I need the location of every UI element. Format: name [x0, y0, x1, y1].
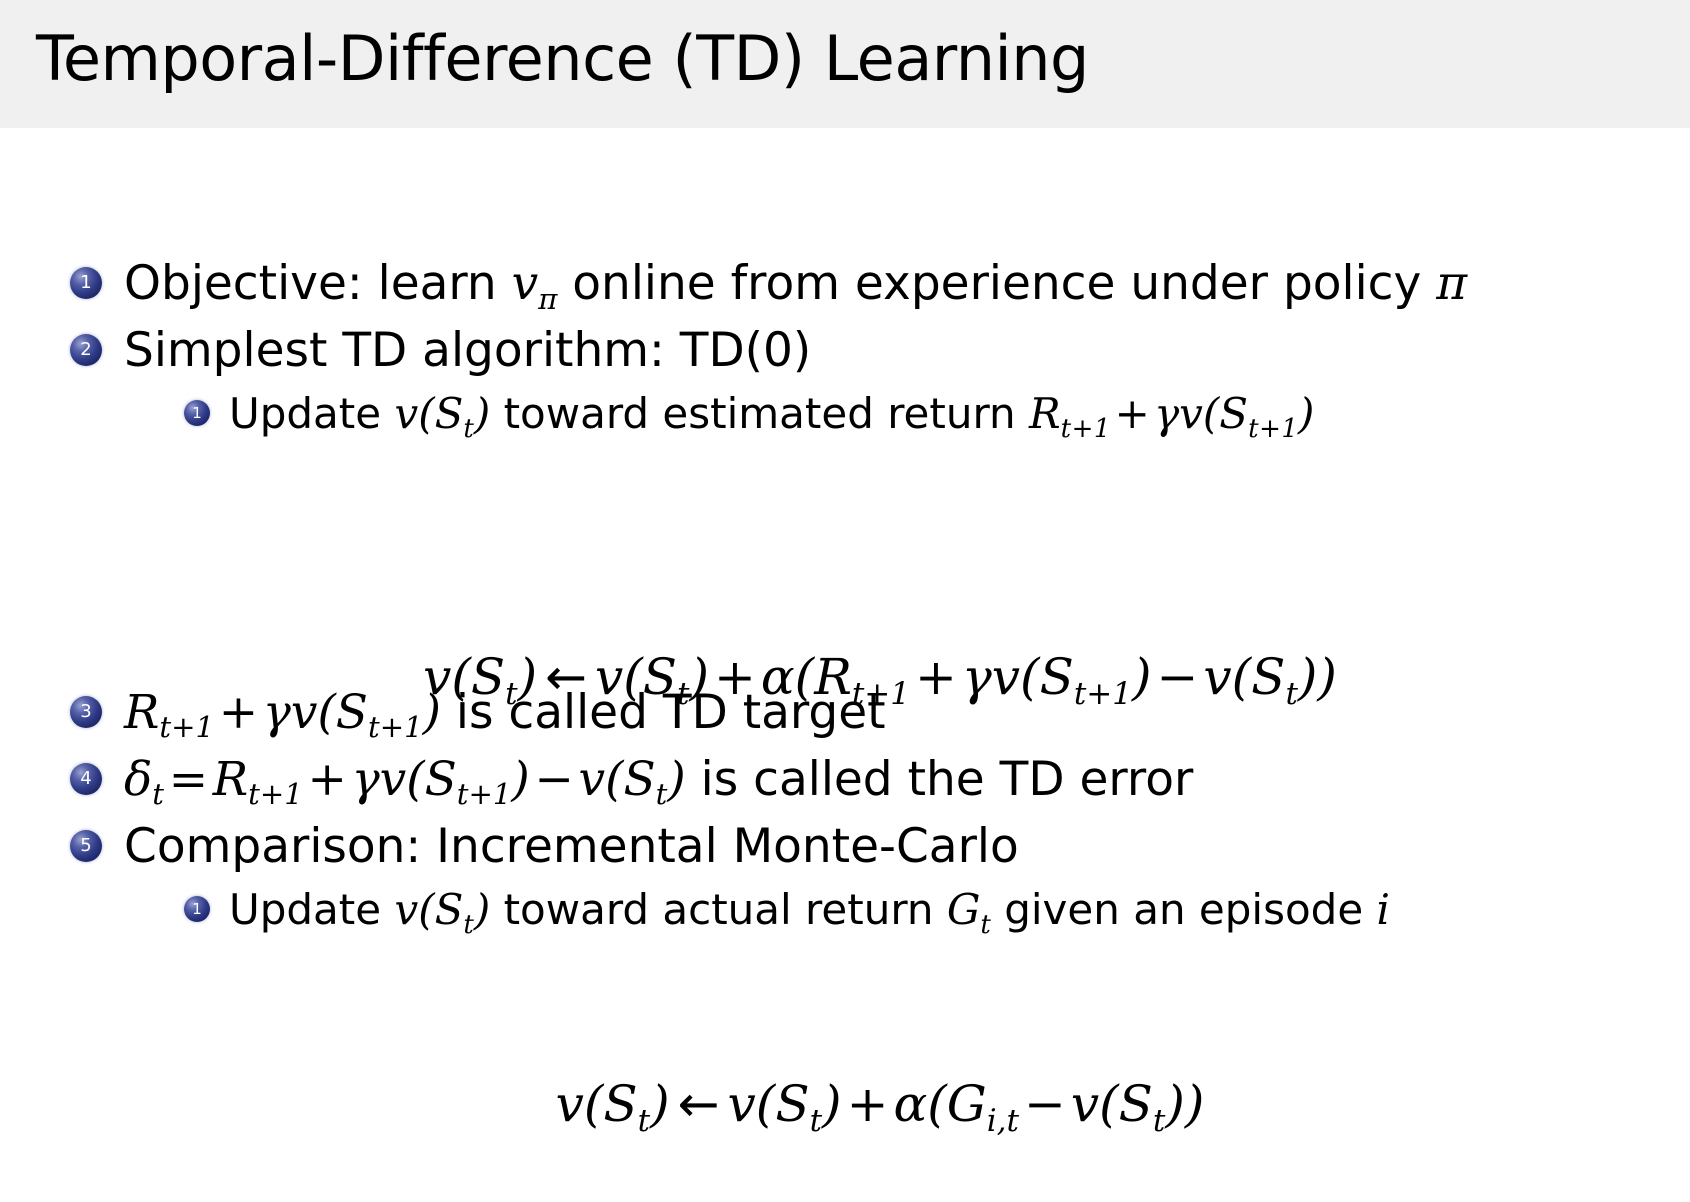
math-paren-close: )) [1165, 1075, 1204, 1133]
text-run: t [1061, 414, 1071, 444]
list-item-text: Comparison: Incremental Monte-Carlo [124, 816, 1019, 877]
math-R: R [814, 648, 852, 706]
list-item-text: Update v(St) toward actual return Gt giv… [229, 883, 1390, 938]
equation-spacer [70, 446, 1630, 682]
equation-body: v(St)←v(St)+α(Rt+1+γv(St+1)−v(St)) [70, 648, 1630, 706]
text-run: + [1259, 414, 1282, 444]
math-S: S [1219, 389, 1248, 438]
math-paren-open: ( [927, 1075, 947, 1133]
math-leftarrow: ← [537, 648, 595, 706]
math-paren-close: ) [689, 648, 709, 706]
math-subscript-t-plus-1: t+1 [1248, 414, 1298, 444]
math-subscript-t: t [677, 676, 689, 712]
list-item-comparison: 5 Comparison: Incremental Monte-Carlo [70, 816, 1630, 877]
bullet-marker-1: 1 [70, 267, 102, 299]
math-paren-open: ( [451, 648, 471, 706]
slide-header: Temporal-Difference (TD) Learning [0, 0, 1690, 128]
math-S: S [1040, 648, 1074, 706]
bullet-marker-5: 5 [70, 830, 102, 862]
math-minus: − [530, 752, 579, 807]
math-paren-open: ( [756, 1075, 776, 1133]
math-minus: − [1152, 648, 1204, 706]
list-item-update-actual-return: 1 Update v(St) toward actual return Gt g… [70, 883, 1630, 938]
text-run: given an episode [991, 885, 1377, 934]
math-subscript-t: t [152, 777, 164, 811]
math-alpha: α [761, 648, 795, 706]
math-gamma: γ [962, 648, 992, 706]
math-paren-close: ) [667, 752, 685, 807]
math-paren-close: ) [822, 1075, 842, 1133]
text-run: online from experience under policy [557, 256, 1436, 311]
list-item-text: δt=Rt+1+γv(St+1)−v(St) is called the TD … [124, 749, 1193, 810]
math-minus: − [1019, 1075, 1071, 1133]
math-subscript-t: t [1285, 676, 1297, 712]
math-paren-close: ) [511, 752, 529, 807]
math-S: S [643, 648, 677, 706]
math-leftarrow: ← [670, 1075, 728, 1133]
math-subscript-t-plus-1: t+1 [1061, 414, 1111, 444]
bullet-marker-2: 2 [70, 334, 102, 366]
text-run: Objective: learn [124, 256, 512, 311]
math-v: v [394, 389, 418, 438]
math-v: v [423, 648, 451, 706]
math-v: v [380, 752, 407, 807]
math-paren-open: ( [1020, 648, 1040, 706]
text-run: toward estimated return [490, 389, 1029, 438]
math-paren-open: ( [623, 648, 643, 706]
math-subscript-t: t [1153, 1103, 1165, 1139]
math-paren-open: ( [584, 1075, 604, 1133]
list-item-objective: 1 Objective: learn vπ online from experi… [70, 253, 1630, 314]
math-v: v [992, 648, 1020, 706]
math-subscript-t-plus-1: t+1 [159, 710, 214, 744]
bullet-marker-sub-1: 1 [184, 400, 210, 426]
math-gamma: γ [1154, 389, 1179, 438]
list-item-update-estimated-return: 1 Update v(St) toward estimated return R… [70, 387, 1630, 442]
list-item-text: Update v(St) toward estimated return Rt+… [229, 387, 1314, 442]
equation-inner: v(St)←v(St)+α(Gi,t−v(St)) [496, 1075, 1205, 1133]
math-v: v [556, 1075, 584, 1133]
math-paren-close: ) [1298, 389, 1314, 438]
math-equals: = [164, 752, 213, 807]
math-paren-open: ( [1203, 389, 1219, 438]
bullet-marker-4: 4 [70, 763, 102, 795]
math-S: S [1251, 648, 1285, 706]
math-alpha: α [893, 1075, 927, 1133]
text-run: t [1248, 414, 1258, 444]
text-run: toward actual return [490, 885, 947, 934]
math-subscript-i-t: i,t [987, 1103, 1019, 1139]
equation-td-update: v(St)←v(St)+α(Rt+1+γv(St+1)−v(St)) [70, 648, 1630, 706]
equation-body: v(St)←v(St)+α(Gi,t−v(St)) [70, 1075, 1630, 1133]
math-pi: π [1436, 256, 1467, 311]
page-title: Temporal-Difference (TD) Learning [36, 22, 1089, 95]
math-S: S [1119, 1075, 1153, 1133]
math-subscript-t: t [638, 1103, 650, 1139]
list-item-text: Simplest TD algorithm: TD(0) [124, 320, 811, 381]
math-paren-close: ) [474, 885, 490, 934]
math-subscript-t: t [463, 910, 473, 940]
math-plus: + [910, 648, 962, 706]
math-subscript-t: t [463, 414, 473, 444]
math-R: R [213, 752, 248, 807]
math-subscript-t-plus-1: t+1 [1074, 676, 1132, 712]
bullet-marker-3: 3 [70, 696, 102, 728]
math-subscript-t: t [980, 910, 990, 940]
list-item-simplest-td: 2 Simplest TD algorithm: TD(0) [70, 320, 1630, 381]
math-plus: + [842, 1075, 894, 1133]
math-plus: + [709, 648, 761, 706]
math-paren-close: )) [1298, 648, 1337, 706]
math-paren-open: ( [1099, 1075, 1119, 1133]
math-S: S [435, 885, 464, 934]
math-v: v [579, 752, 606, 807]
list-item-td-error: 4 δt=Rt+1+γv(St+1)−v(St) is called the T… [70, 749, 1630, 810]
math-subscript-t: t [810, 1103, 822, 1139]
text-run: 1 [1094, 414, 1111, 444]
text-run: + [1071, 414, 1094, 444]
math-G: G [947, 885, 981, 934]
math-paren-close: ) [1132, 648, 1152, 706]
math-delta: δ [124, 752, 152, 807]
math-subscript-t: t [656, 777, 668, 811]
math-v: v [1179, 389, 1203, 438]
math-subscript-t: t [505, 676, 517, 712]
math-subscript-pi: π [538, 282, 557, 316]
text-run: 1 [1281, 414, 1298, 444]
equation-mc-update: v(St)←v(St)+α(Gi,t−v(St)) [70, 1075, 1630, 1133]
text-run: is called the TD error [686, 752, 1194, 807]
math-paren-open: ( [406, 752, 424, 807]
math-paren-open: ( [795, 648, 815, 706]
enumerate-list: 1 Objective: learn vπ online from experi… [70, 253, 1630, 942]
list-item-text: Objective: learn vπ online from experien… [124, 253, 1467, 314]
math-S: S [425, 752, 457, 807]
math-S: S [471, 648, 505, 706]
math-paren-close: ) [474, 389, 490, 438]
math-v: v [394, 885, 418, 934]
math-v: v [1203, 648, 1231, 706]
math-v: v [512, 256, 539, 311]
math-S: S [623, 752, 655, 807]
math-v: v [595, 648, 623, 706]
math-S: S [435, 389, 464, 438]
text-run: Update [229, 885, 394, 934]
math-paren-close: ) [518, 648, 538, 706]
math-paren-open: ( [418, 885, 434, 934]
math-plus: + [1110, 389, 1154, 438]
math-subscript-t-plus-1: t+1 [457, 777, 512, 811]
math-S: S [775, 1075, 809, 1133]
slide-body: 1 Objective: learn vπ online from experi… [0, 128, 1690, 1202]
math-paren-open: ( [418, 389, 434, 438]
math-subscript-t-plus-1: t+1 [248, 777, 303, 811]
math-subscript-t-plus-1: t+1 [368, 710, 423, 744]
math-G: G [947, 1075, 987, 1133]
math-i: i [1377, 885, 1390, 934]
bullet-marker-sub-2: 1 [184, 896, 210, 922]
equation-inner: v(St)←v(St)+α(Rt+1+γv(St+1)−v(St)) [363, 648, 1337, 706]
text-run: Update [229, 389, 394, 438]
math-S: S [603, 1075, 637, 1133]
math-v: v [728, 1075, 756, 1133]
math-v: v [1071, 1075, 1099, 1133]
math-subscript-t-plus-1: t+1 [852, 676, 910, 712]
math-paren-close: ) [650, 1075, 670, 1133]
math-R: R [1029, 389, 1061, 438]
math-gamma: γ [352, 752, 380, 807]
math-paren-open: ( [605, 752, 623, 807]
math-paren-open: ( [1232, 648, 1252, 706]
math-plus: + [303, 752, 352, 807]
